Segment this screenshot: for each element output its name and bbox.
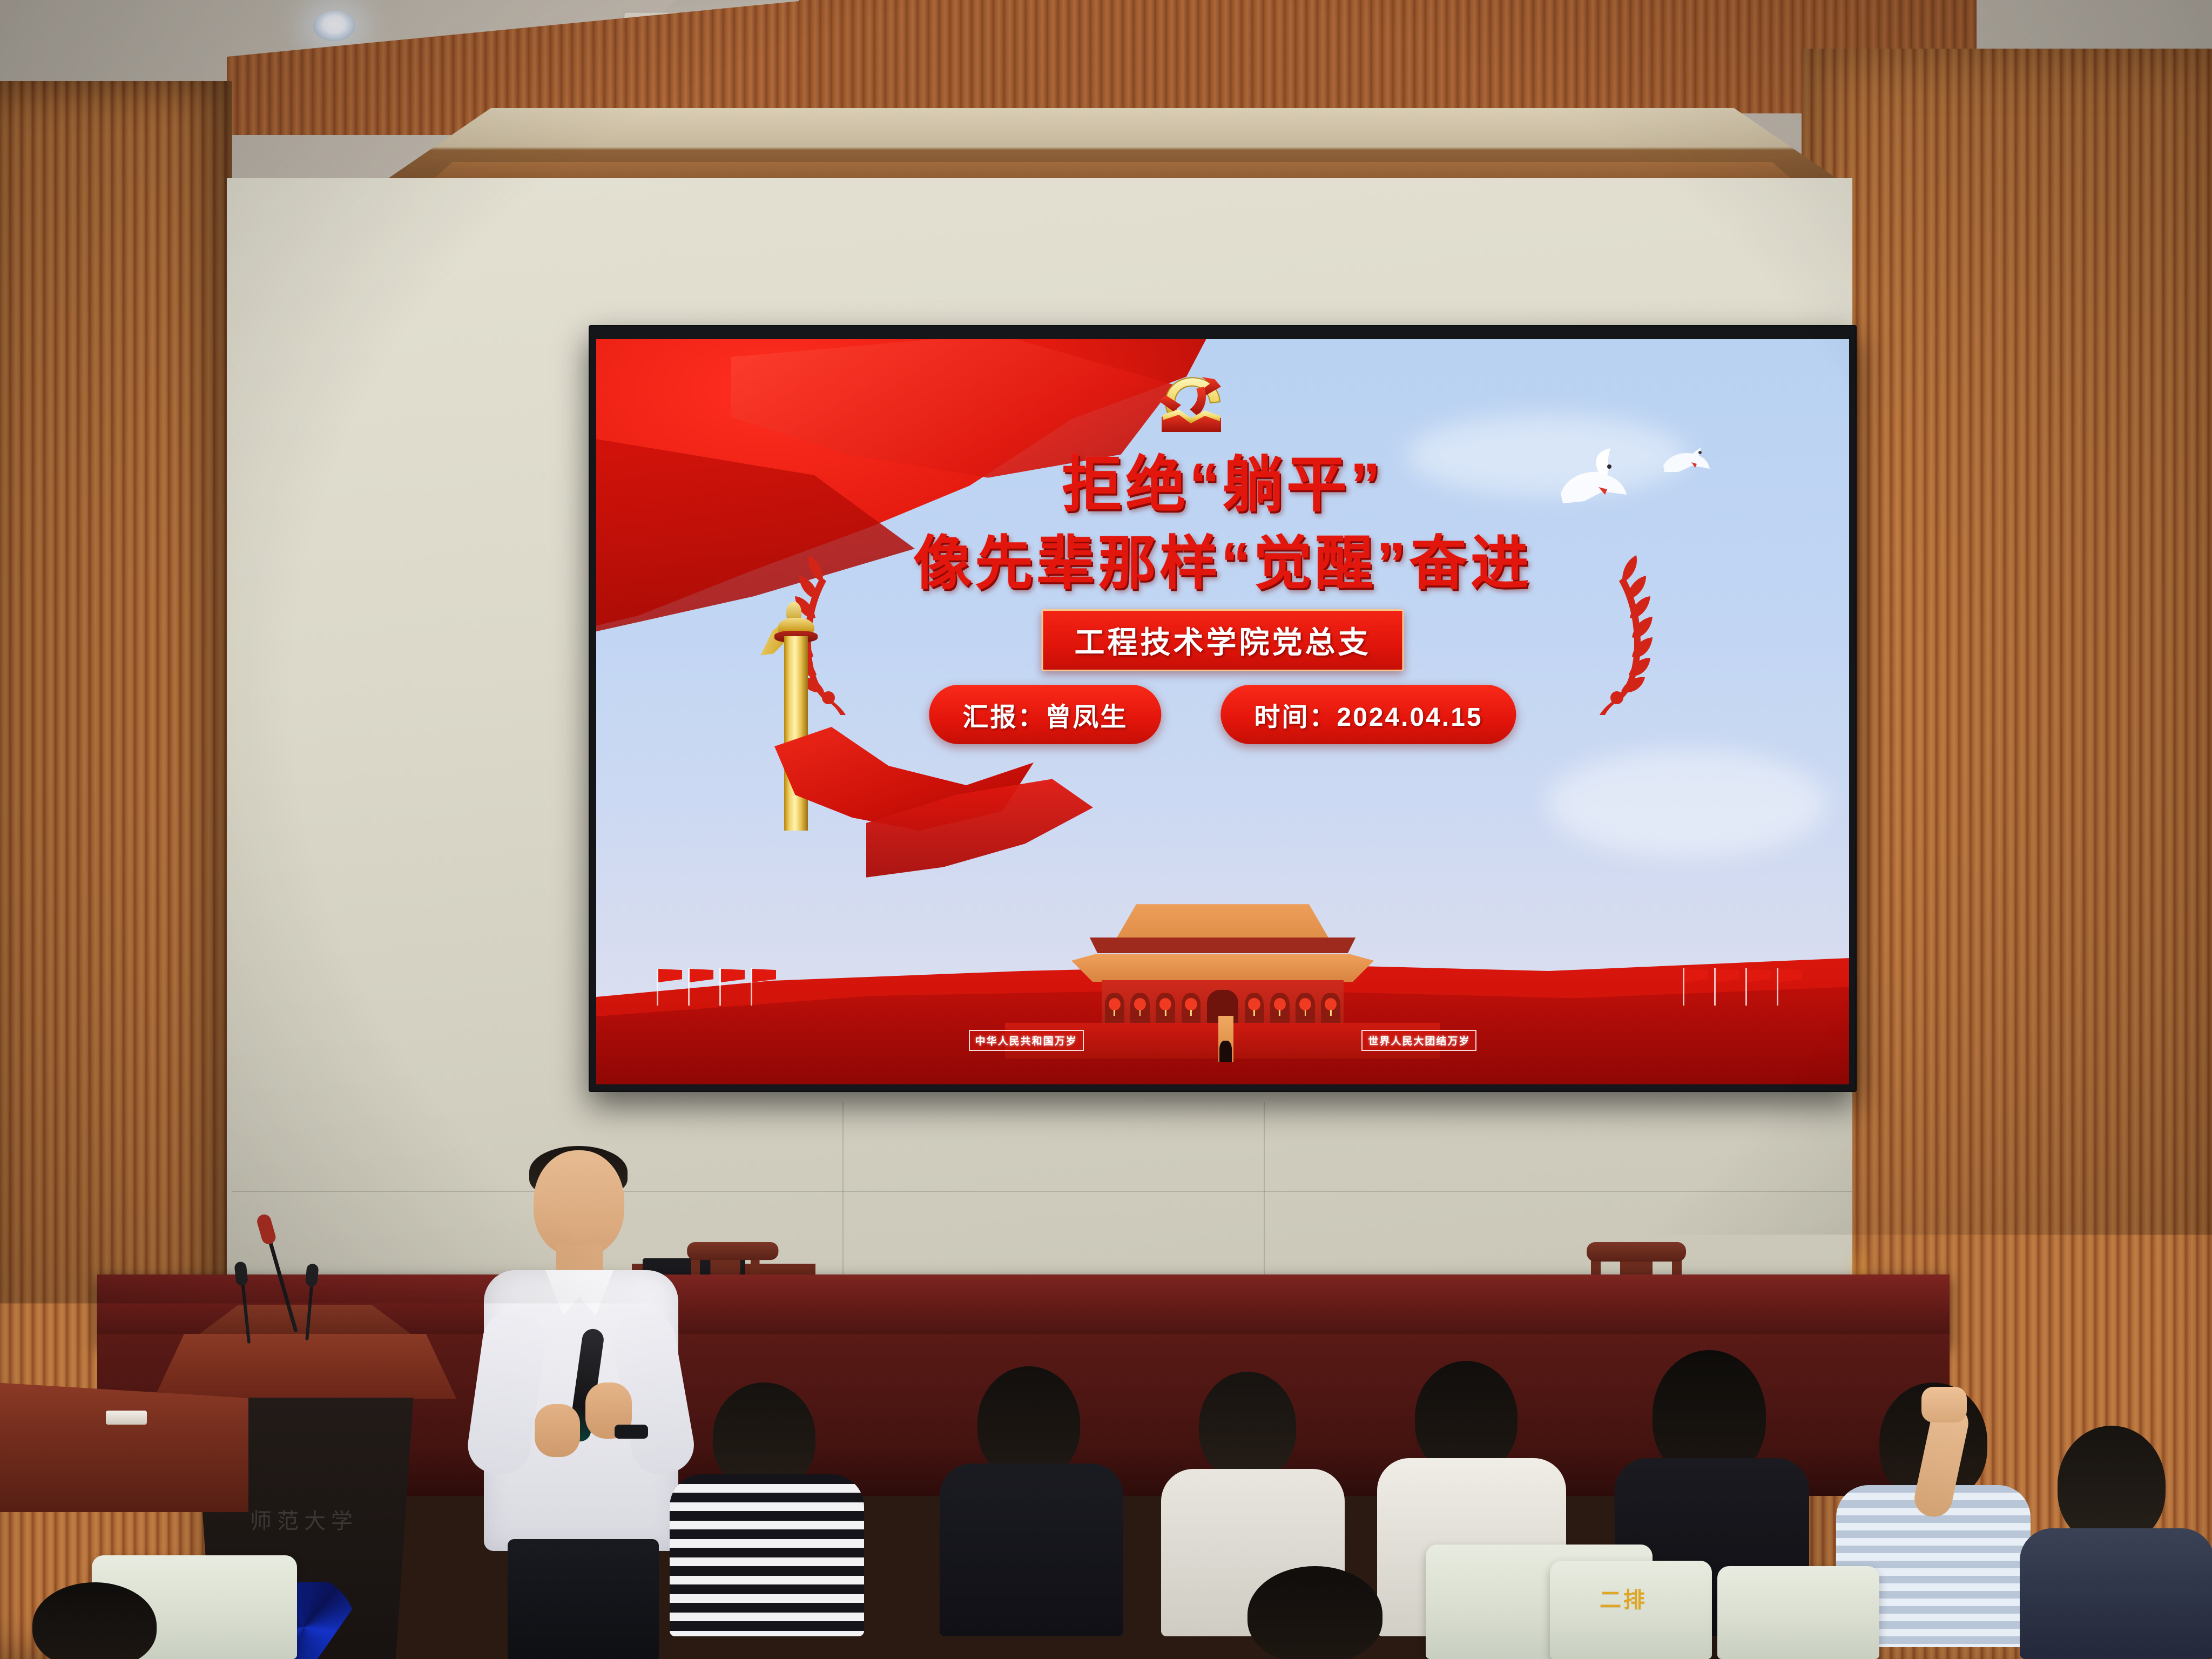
wristwatch — [615, 1425, 648, 1439]
audience-head-foreground — [1015, 1555, 1156, 1659]
audience-head-foreground — [1247, 1566, 1382, 1659]
presenter-pill-label: 汇报：曾凤生 — [962, 703, 1128, 732]
organization-banner-label: 工程技术学院党总支 — [1075, 625, 1371, 659]
mini-flag-icon — [751, 968, 763, 1006]
auditorium-scene: 拒绝“躺平” 像先辈那样“觉醒”奋进 工程技术学院党总支 汇报：曾凤生 时间：2… — [0, 0, 2212, 1659]
audience-hand — [1921, 1387, 1967, 1422]
presenter-left-hand — [535, 1404, 580, 1457]
tissue-box — [106, 1411, 147, 1425]
date-pill-label: 时间：2024.04.15 — [1254, 703, 1482, 732]
gate-slogan-right-label: 世界人民大团结万岁 — [1368, 1036, 1470, 1047]
slide-info-pills: 汇报：曾凤生 时间：2024.04.15 — [929, 685, 1516, 744]
audience-head — [2058, 1426, 2166, 1545]
seat-row-label: 二排 — [657, 1601, 711, 1636]
audience-torso — [2020, 1528, 2212, 1659]
audience-head — [1415, 1361, 1518, 1474]
cpc-party-emblem-icon — [1150, 365, 1247, 446]
tiananmen-gate-icon: 中华人民共和国万岁 世界人民大团结万岁 — [1071, 880, 1374, 1058]
mini-flag-icon — [688, 968, 700, 1006]
left-side-desk — [0, 1382, 248, 1512]
auditorium-seat[interactable] — [1717, 1566, 1879, 1659]
gate-slogan-left-label: 中华人民共和国万岁 — [975, 1036, 1077, 1047]
seat-row-label: 二排 — [942, 1608, 996, 1644]
mini-flag-icon — [1777, 968, 1789, 1006]
audience-head — [977, 1366, 1080, 1480]
auditorium-seat[interactable] — [583, 1523, 821, 1659]
mini-flag-row-left — [657, 968, 763, 1006]
mini-flag-icon — [1683, 968, 1695, 1006]
mini-flag-icon — [1745, 968, 1757, 1006]
cloud — [1547, 750, 1827, 858]
date-pill: 时间：2024.04.15 — [1220, 685, 1516, 744]
gate-slogan-left: 中华人民共和国万岁 — [969, 1030, 1084, 1051]
podium-top — [154, 1334, 456, 1399]
presenter-pill: 汇报：曾凤生 — [929, 685, 1161, 744]
slide-title-line-1: 拒绝“躺平” — [596, 445, 1849, 525]
audience-head — [1199, 1372, 1296, 1480]
slide-title-block: 拒绝“躺平” 像先辈那样“觉醒”奋进 — [596, 445, 1849, 602]
wood-wall-upper-right — [799, 0, 1977, 113]
slide-title-line-2: 像先辈那样“觉醒”奋进 — [596, 525, 1849, 602]
mini-flag-icon — [657, 968, 669, 1006]
mini-flag-row-right — [1683, 968, 1789, 1006]
seat-row-label: 二排 — [1600, 1582, 1647, 1614]
presenter-head — [534, 1150, 624, 1256]
presentation-screen[interactable]: 拒绝“躺平” 像先辈那样“觉醒”奋进 工程技术学院党总支 汇报：曾凤生 时间：2… — [596, 339, 1849, 1084]
organization-banner: 工程技术学院党总支 — [1042, 609, 1404, 671]
mini-flag-icon — [719, 968, 731, 1006]
gate-slogan-right: 世界人民大团结万岁 — [1361, 1030, 1476, 1051]
ceiling-spotlight-icon — [313, 11, 355, 41]
mini-flag-icon — [1714, 968, 1726, 1006]
